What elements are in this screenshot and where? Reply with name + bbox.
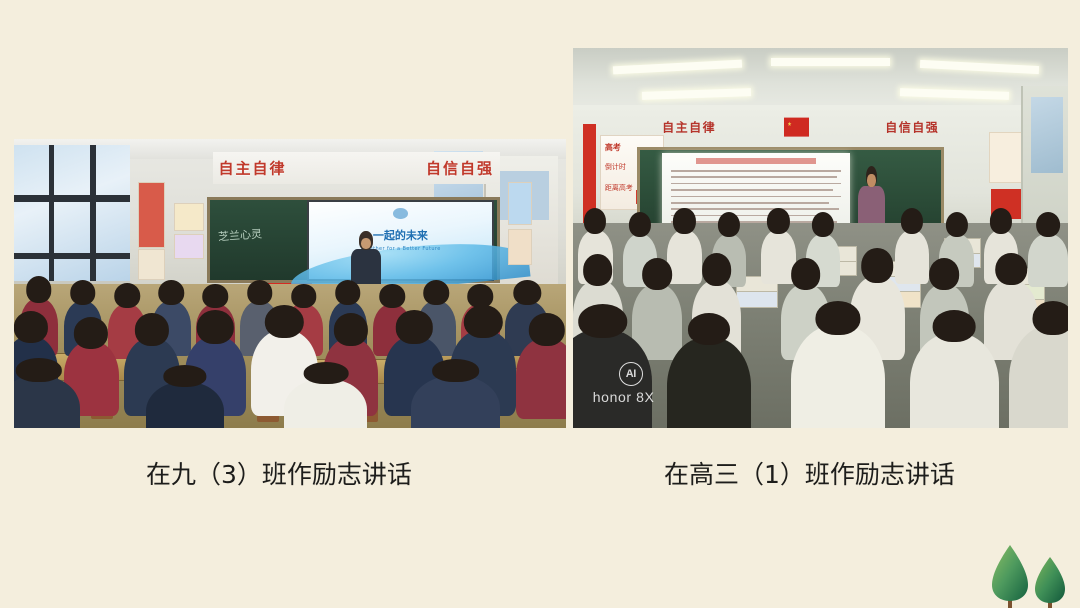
right-banner-text-end: 自信自强: [885, 118, 939, 135]
right-student: [895, 230, 930, 283]
countdown-line-1: 高考: [605, 142, 621, 153]
left-wall-banner: 自主自律 自信自强: [213, 152, 500, 184]
camera-watermark: AI honor 8X: [593, 362, 655, 405]
ai-badge-icon: AI: [619, 362, 643, 386]
right-wall-banner: 自主自律 自信自强: [662, 113, 939, 142]
right-flag-icon: [784, 117, 809, 136]
left-poster-3: [174, 203, 204, 231]
right-student: [667, 230, 702, 283]
left-student-front: [284, 379, 367, 428]
left-banner-text-start: 自主自律: [218, 157, 286, 178]
caption-left-photo: 在九（3）班作励志讲话: [146, 455, 412, 491]
ceiling-light: [771, 58, 890, 66]
left-poster-6: [508, 229, 532, 266]
left-poster-2: [138, 249, 165, 280]
left-poster-1: [138, 182, 165, 248]
countdown-line-3: 距离高考: [605, 183, 633, 193]
left-window: [14, 145, 130, 284]
left-student: [516, 338, 566, 419]
tree-leaf-right: [1035, 557, 1065, 603]
left-projection-screen: 一起的未来 Together for a Better Future: [307, 200, 495, 281]
left-poster-4: [174, 234, 204, 259]
right-student: [1028, 234, 1068, 287]
caption-right-photo: 在高三（1）班作励志讲话: [664, 455, 955, 491]
left-speaker: [351, 231, 381, 289]
left-screen-logo-icon: [393, 208, 408, 219]
left-blackboard-chalk-area: 芝兰心灵: [213, 198, 301, 282]
countdown-line-2: 倒计时: [605, 162, 626, 172]
two-trees-logo: [976, 543, 1080, 608]
left-banner-text-end: 自信自强: [426, 157, 494, 178]
left-classroom-scene: 自主自律 自信自强 芝兰心灵 一起的未来 Together for a Bett…: [14, 139, 566, 428]
right-student-front: [910, 333, 999, 428]
right-side-window: [1031, 97, 1063, 173]
left-student-front: [411, 376, 499, 428]
right-classroom-scene: 自主自律 自信自强 高考 倒计时 距离高考: [573, 48, 1068, 428]
photo-left-classroom[interactable]: 自主自律 自信自强 芝兰心灵 一起的未来 Together for a Bett…: [14, 139, 566, 428]
left-student-front: [146, 382, 223, 428]
right-banner-text-start: 自主自律: [662, 118, 716, 135]
left-screen-title: 一起的未来: [309, 227, 493, 243]
book-stack: [736, 291, 778, 308]
right-student-front: [667, 337, 751, 428]
tree-leaf-left: [992, 545, 1028, 601]
presentation-slide: 自主自律 自信自强 芝兰心灵 一起的未来 Together for a Bett…: [0, 0, 1080, 608]
left-chalk-text: 芝兰心灵: [218, 225, 263, 244]
right-student-front: [791, 325, 885, 428]
left-screen-subtitle: Together for a Better Future: [309, 246, 493, 252]
watermark-text: honor 8X: [593, 389, 655, 405]
left-poster-5: [508, 182, 532, 224]
photo-right-classroom[interactable]: 自主自律 自信自强 高考 倒计时 距离高考: [573, 48, 1068, 428]
